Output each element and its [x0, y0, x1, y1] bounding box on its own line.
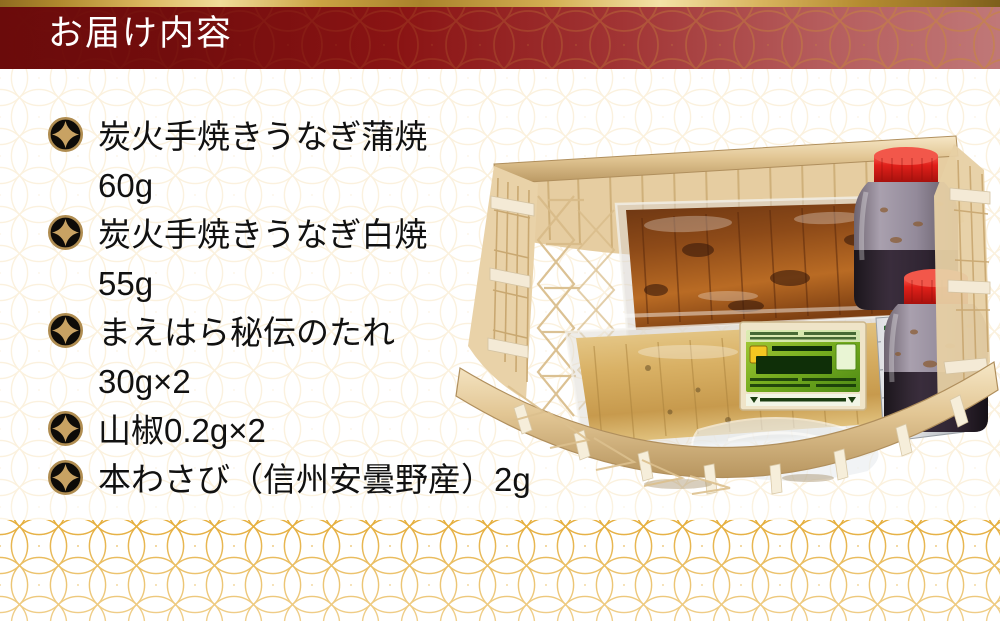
section-header: お届け内容: [0, 0, 1000, 69]
list-item-label: 炭火手焼きうなぎ蒲焼 60g: [98, 112, 604, 210]
gold-star-emblem-icon: [48, 460, 83, 495]
list-item: まえはら秘伝のたれ 30g×2: [44, 308, 604, 406]
list-item-label: 本わさび（信州安曇野産）2g: [98, 455, 604, 504]
gold-star-emblem-icon: [48, 313, 83, 348]
list-item-label: まえはら秘伝のたれ 30g×2: [98, 308, 604, 406]
list-item-label: 炭火手焼きうなぎ白焼 55g: [98, 210, 604, 308]
wasabi-package: [740, 322, 866, 410]
list-item: 本わさび（信州安曇野産）2g: [44, 455, 604, 504]
page-title: お届け内容: [48, 12, 233, 56]
list-item: 炭火手焼きうなぎ蒲焼 60g: [44, 112, 604, 210]
list-item-label: 山椒0.2g×2: [98, 406, 604, 455]
gold-star-emblem-icon: [48, 411, 83, 446]
gold-star-emblem-icon: [48, 117, 83, 152]
product-contents-banner: お届け内容 炭火手焼きうなぎ蒲焼 60g 炭火手焼きうなぎ白焼 55g まえはら…: [0, 0, 1000, 621]
list-item: 山椒0.2g×2: [44, 406, 604, 455]
list-item: 炭火手焼きうなぎ白焼 55g: [44, 210, 604, 308]
gold-star-emblem-icon: [48, 215, 83, 250]
delivery-contents-list: 炭火手焼きうなぎ蒲焼 60g 炭火手焼きうなぎ白焼 55g まえはら秘伝のたれ …: [44, 112, 604, 504]
